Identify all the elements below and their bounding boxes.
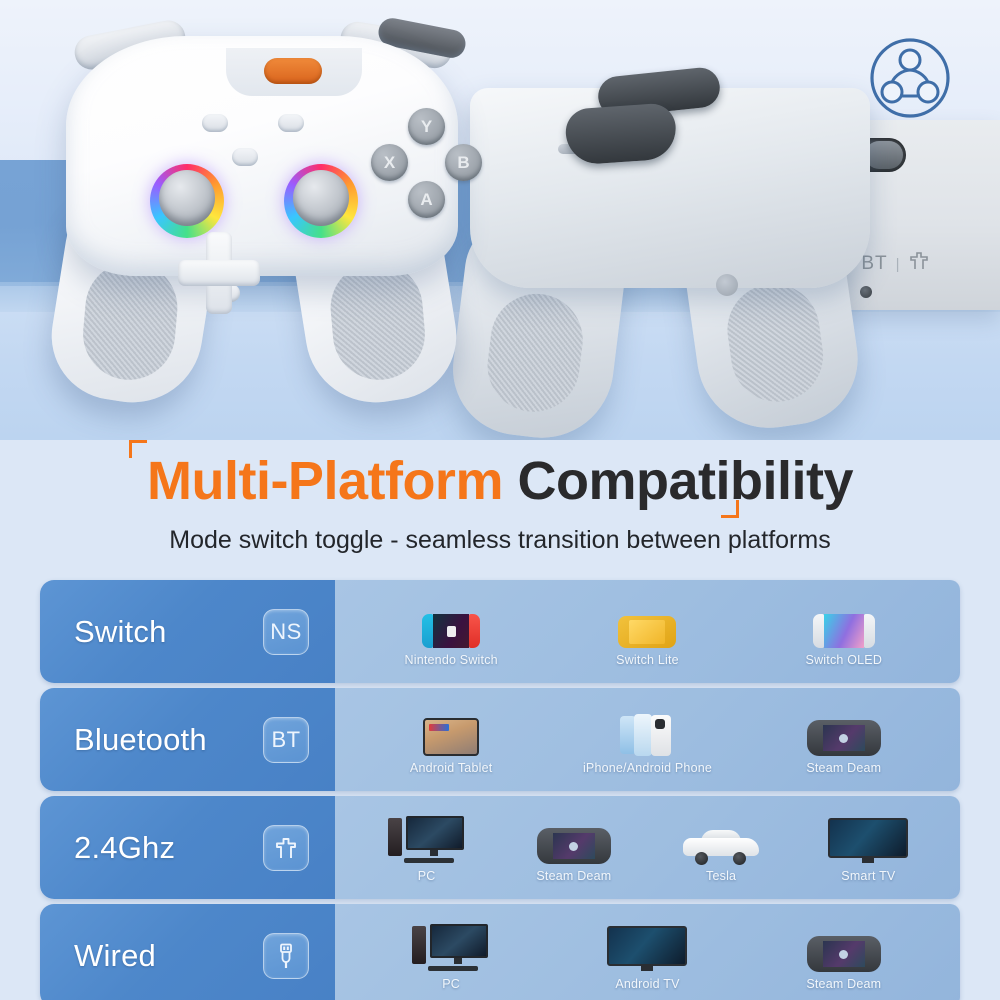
rear-screw <box>716 274 738 296</box>
row-label-cell: Switch NS <box>40 580 335 683</box>
steam-deck-icon <box>537 812 611 864</box>
home-small-button[interactable] <box>232 148 258 166</box>
list-item: Tesla <box>660 812 782 883</box>
row-label: Switch <box>74 614 167 650</box>
title-block: Multi-Platform Compatibility Mode switch… <box>0 440 1000 570</box>
list-item: Steam Deam <box>783 704 905 775</box>
title-highlight: Multi-Platform <box>147 451 503 511</box>
device-label: Switch Lite <box>616 653 679 667</box>
hero-section: NS | BT | <box>0 0 1000 440</box>
analog-stick-left[interactable] <box>150 164 224 238</box>
page-title: Multi-Platform Compatibility <box>125 440 875 520</box>
grip-texture <box>327 258 429 384</box>
list-item: Android Tablet <box>390 704 512 775</box>
button-y[interactable]: Y <box>408 108 445 145</box>
bracket-top-left-icon <box>129 440 147 458</box>
page-subtitle: Mode switch toggle - seamless transition… <box>0 526 1000 555</box>
tablet-icon <box>423 704 479 756</box>
pc-icon <box>388 812 466 864</box>
device-label: Steam Deam <box>806 761 881 775</box>
button-b[interactable]: B <box>445 144 482 181</box>
list-item: Switch Lite <box>586 596 708 667</box>
list-item: PC <box>366 812 488 883</box>
controller-front-view: M Y X B A <box>48 22 478 422</box>
switch-oled-icon <box>813 596 875 648</box>
grip-texture <box>79 258 181 384</box>
row-label-cell: Wired <box>40 904 335 1000</box>
device-label: PC <box>442 977 460 991</box>
ns-text-badge: NS <box>263 609 309 655</box>
list-item: Nintendo Switch <box>390 596 512 667</box>
list-item: Steam Deam <box>513 812 635 883</box>
table-row: 2.4Ghz PC Steam Deam <box>40 796 960 899</box>
title-rest: Compatibility <box>517 451 853 511</box>
device-label: PC <box>418 869 436 883</box>
row-devices: Android Tablet iPhone/Android Phone Stea… <box>335 688 960 791</box>
analog-stick-right[interactable] <box>284 164 358 238</box>
grip-texture <box>722 278 830 408</box>
device-label: Android TV <box>615 977 679 991</box>
dpad-horizontal <box>178 260 260 286</box>
device-label: Tesla <box>706 869 736 883</box>
device-label: Steam Deam <box>536 869 611 883</box>
tesla-car-icon <box>683 812 759 864</box>
controller-shell: M Y X B A <box>66 36 458 276</box>
row-label: Wired <box>74 938 156 974</box>
row-label: Bluetooth <box>74 722 207 758</box>
button-a[interactable]: A <box>408 181 445 218</box>
device-label: Nintendo Switch <box>404 653 497 667</box>
list-item: Steam Deam <box>783 920 905 991</box>
list-item: Android TV <box>586 920 708 991</box>
device-label: Android Tablet <box>410 761 493 775</box>
phones-icon <box>618 704 676 756</box>
list-item: PC <box>390 920 512 991</box>
screenshot-button[interactable] <box>202 114 228 132</box>
row-label-cell: 2.4Ghz <box>40 796 335 899</box>
table-row: Bluetooth BT Android Tablet iPhone/Andro… <box>40 688 960 791</box>
steam-deck-icon <box>807 920 881 972</box>
device-label: Steam Deam <box>806 977 881 991</box>
row-label-cell: Bluetooth BT <box>40 688 335 791</box>
list-item: Switch OLED <box>783 596 905 667</box>
switch-console-icon <box>422 596 480 648</box>
product-feature-page: NS | BT | <box>0 0 1000 1000</box>
button-x[interactable]: X <box>371 144 408 181</box>
device-label: Smart TV <box>841 869 895 883</box>
compatibility-table: Switch NS Nintendo Switch <box>40 580 960 1000</box>
share-nodes-icon <box>858 26 962 130</box>
usb-cable-icon <box>263 933 309 979</box>
tv-icon <box>607 920 687 972</box>
bt-text-badge: BT <box>263 717 309 763</box>
device-label: iPhone/Android Phone <box>583 761 712 775</box>
device-label: Switch OLED <box>806 653 883 667</box>
pc-icon <box>412 920 490 972</box>
steam-deck-icon <box>807 704 881 756</box>
row-devices: PC Android TV Steam Deam <box>335 904 960 1000</box>
row-devices: Nintendo Switch Switch Lite Switch OLED <box>335 580 960 683</box>
usb-dongle-icon <box>263 825 309 871</box>
row-label: 2.4Ghz <box>74 830 175 866</box>
table-row: Wired PC <box>40 904 960 1000</box>
grip-texture <box>482 289 588 417</box>
bracket-bottom-right-icon <box>721 500 739 518</box>
home-button[interactable] <box>264 58 322 84</box>
dpad[interactable] <box>178 232 260 314</box>
switch-lite-icon <box>618 596 676 648</box>
list-item: iPhone/Android Phone <box>586 704 708 775</box>
menu-button[interactable] <box>278 114 304 132</box>
tv-icon <box>828 812 908 864</box>
list-item: Smart TV <box>807 812 929 883</box>
table-row: Switch NS Nintendo Switch <box>40 580 960 683</box>
row-devices: PC Steam Deam Tesla <box>335 796 960 899</box>
